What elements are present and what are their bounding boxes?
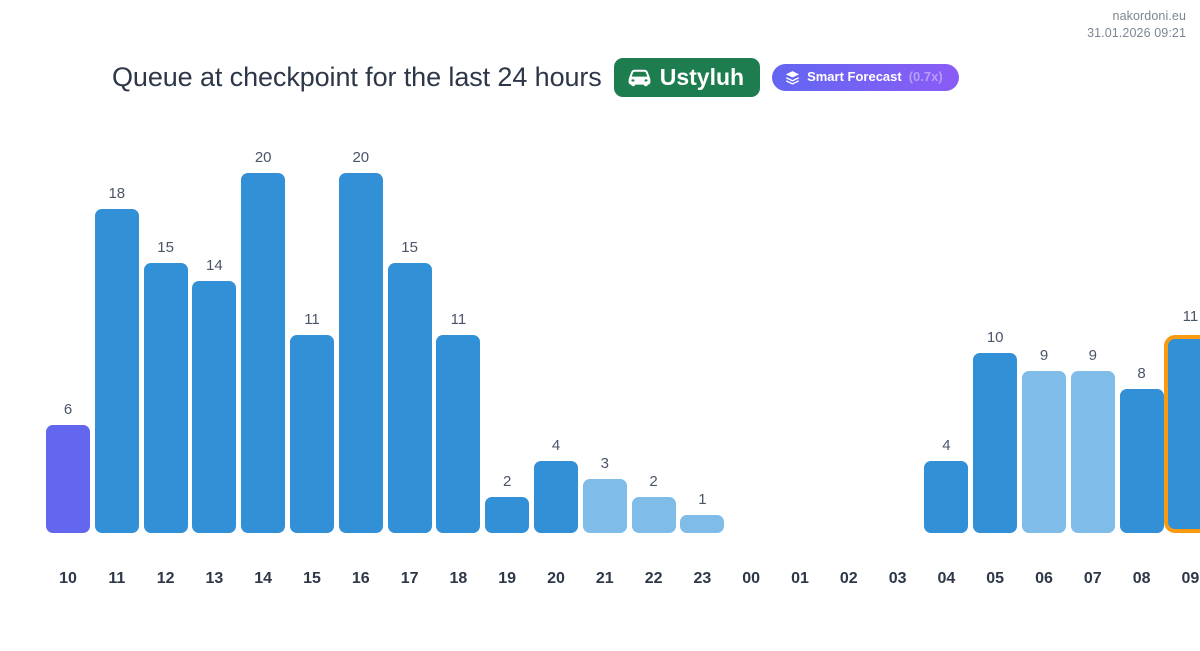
bar-value-14: 20 [233,149,293,166]
bar-19[interactable] [485,497,529,533]
chart-header: Queue at checkpoint for the last 24 hour… [112,58,1100,97]
bar-slot: 9 [1022,133,1066,533]
page-meta: nakordoni.eu 31.01.2026 09:21 [1087,8,1186,41]
bar-18[interactable] [436,335,480,533]
timestamp: 31.01.2026 09:21 [1087,25,1186,42]
bar-slot: 11 [290,133,334,533]
bar-slot [729,133,773,533]
location-badge[interactable]: Ustyluh [614,58,760,97]
bar-value-07: 9 [1063,347,1123,364]
bar-slot: 15 [144,133,188,533]
bar-21[interactable] [583,479,627,533]
bar-slot: 11 [1168,133,1200,533]
bar-07[interactable] [1071,371,1115,533]
bar-slot: 20 [241,133,285,533]
x-axis: 1011121314151617181920212223000102030405… [46,570,1200,596]
bar-value-13: 14 [184,257,244,274]
bar-value-18: 11 [428,311,488,328]
location-badge-label: Ustyluh [660,65,744,90]
bar-05[interactable] [973,353,1017,533]
bar-slot: 20 [339,133,383,533]
bar-09[interactable] [1164,335,1200,533]
bar-04[interactable] [924,461,968,533]
bar-value-20: 4 [526,437,586,454]
bar-slot: 4 [534,133,578,533]
bar-slot: 14 [192,133,236,533]
bar-value-16: 20 [331,149,391,166]
bar-slot: 8 [1120,133,1164,533]
bar-value-08: 8 [1112,365,1172,382]
bar-chart-plot-area: 618151420112015112432141099811 [46,133,1200,533]
bar-slot: 11 [436,133,480,533]
bar-slot: 6 [46,133,90,533]
bar-value-23: 1 [672,491,732,508]
bar-10[interactable] [46,425,90,533]
bar-slot: 15 [388,133,432,533]
bar-slot: 3 [583,133,627,533]
bar-value-19: 2 [477,473,537,490]
forecast-badge-label: Smart Forecast [807,70,902,84]
bar-slot: 2 [632,133,676,533]
bar-value-11: 18 [87,185,147,202]
bar-value-22: 2 [624,473,684,490]
forecast-badge[interactable]: Smart Forecast (0.7x) [772,64,959,91]
bar-11[interactable] [95,209,139,533]
page-title: Queue at checkpoint for the last 24 hour… [112,62,602,93]
bar-slot: 1 [680,133,724,533]
bar-value-17: 15 [380,239,440,256]
bar-22[interactable] [632,497,676,533]
bar-20[interactable] [534,461,578,533]
bar-23[interactable] [680,515,724,533]
bar-06[interactable] [1022,371,1066,533]
bar-value-10: 6 [38,401,98,418]
site-name: nakordoni.eu [1087,8,1186,25]
bar-slot [778,133,822,533]
layers-icon [785,70,800,85]
bar-slot: 2 [485,133,529,533]
bar-15[interactable] [290,335,334,533]
bar-slot: 9 [1071,133,1115,533]
axis-label-09: 09 [1160,570,1200,588]
bar-value-05: 10 [965,329,1025,346]
bar-slot: 4 [924,133,968,533]
bar-value-12: 15 [136,239,196,256]
bar-17[interactable] [388,263,432,533]
bar-value-15: 11 [282,311,342,328]
bar-value-04: 4 [916,437,976,454]
bar-16[interactable] [339,173,383,533]
bar-value-21: 3 [575,455,635,472]
bar-slot: 10 [973,133,1017,533]
forecast-multiplier: (0.7x) [909,70,943,84]
bar-slot [827,133,871,533]
bar-slot [876,133,920,533]
car-icon [627,69,652,87]
bar-08[interactable] [1120,389,1164,533]
bar-14[interactable] [241,173,285,533]
bar-13[interactable] [192,281,236,533]
bar-12[interactable] [144,263,188,533]
bar-value-09: 11 [1160,308,1200,325]
bar-slot: 18 [95,133,139,533]
